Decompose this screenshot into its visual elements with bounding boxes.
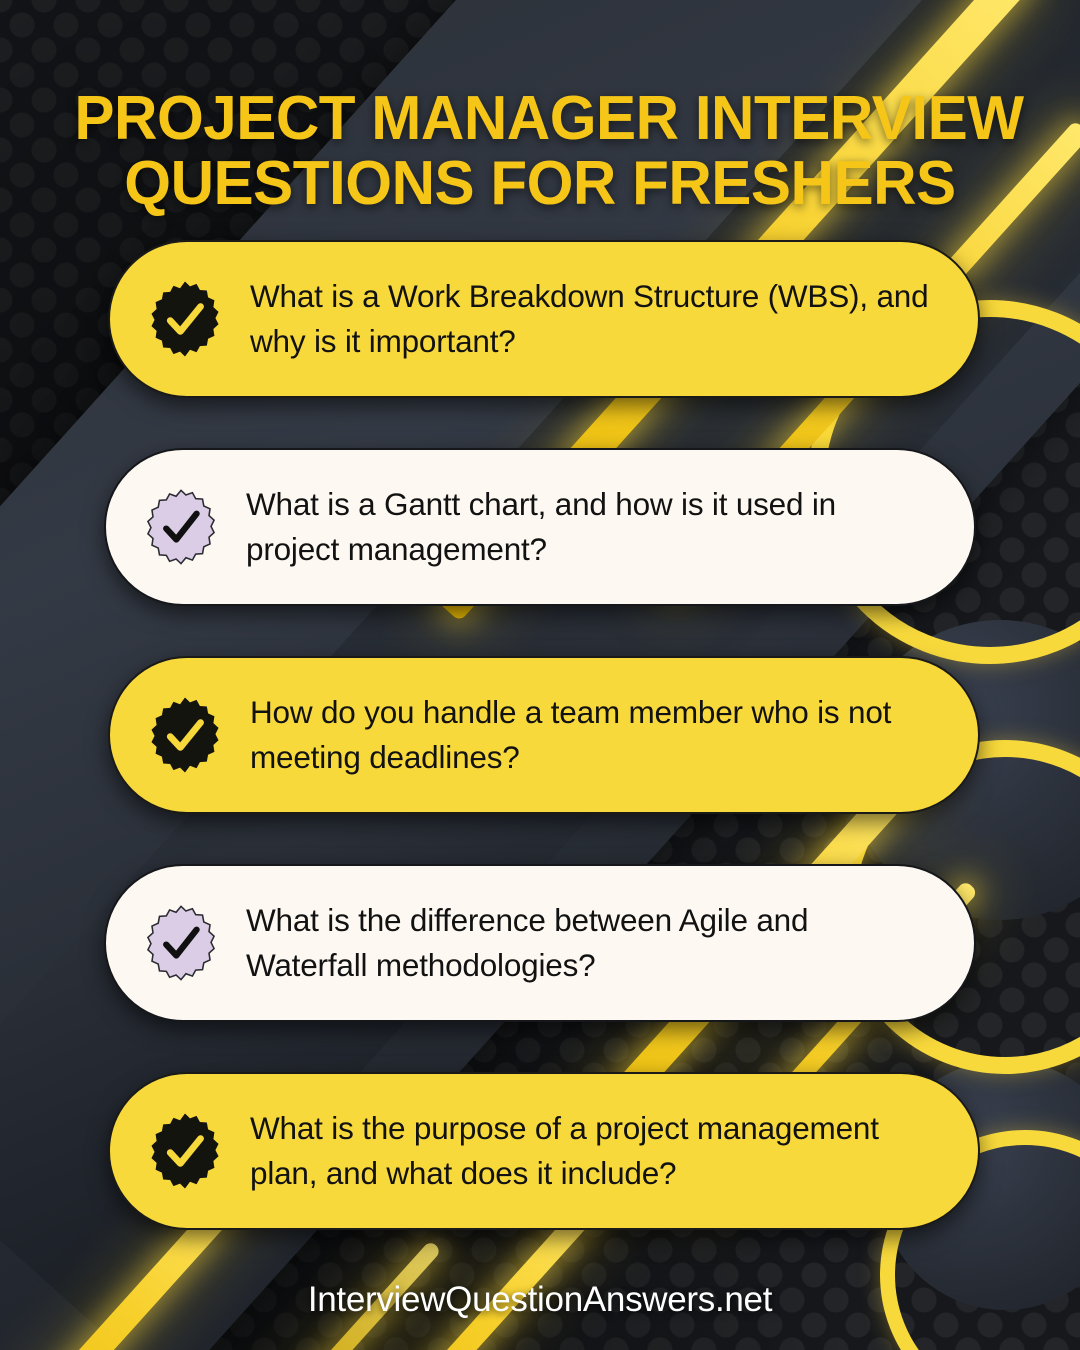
question-text: How do you handle a team member who is n… bbox=[250, 690, 936, 779]
page-title-line-1: PROJECT MANAGER INTERVIEW bbox=[74, 86, 1005, 152]
check-seal-lavender-icon bbox=[142, 904, 220, 982]
question-card-5[interactable]: What is the purpose of a project managem… bbox=[108, 1072, 980, 1230]
check-seal-dark-icon bbox=[146, 696, 224, 774]
question-card-3[interactable]: How do you handle a team member who is n… bbox=[108, 656, 980, 814]
check-seal-lavender-icon bbox=[142, 488, 220, 566]
check-seal-dark-icon bbox=[146, 280, 224, 358]
poster-canvas: PROJECT MANAGER INTERVIEW QUESTIONS FOR … bbox=[0, 0, 1080, 1350]
check-seal-dark-icon bbox=[146, 1112, 224, 1190]
page-title: PROJECT MANAGER INTERVIEW QUESTIONS FOR … bbox=[16, 86, 1064, 217]
question-list: What is a Work Breakdown Structure (WBS)… bbox=[0, 240, 1080, 1280]
question-card-1[interactable]: What is a Work Breakdown Structure (WBS)… bbox=[108, 240, 980, 398]
question-text: What is the purpose of a project managem… bbox=[250, 1106, 936, 1195]
question-card-4[interactable]: What is the difference between Agile and… bbox=[104, 864, 976, 1022]
question-text: What is a Gantt chart, and how is it use… bbox=[246, 482, 932, 571]
question-card-2[interactable]: What is a Gantt chart, and how is it use… bbox=[104, 448, 976, 606]
footer-website-label: InterviewQuestionAnswers.net bbox=[0, 1280, 1080, 1320]
page-title-line-2: QUESTIONS FOR FRESHERS bbox=[74, 151, 1005, 217]
question-text: What is the difference between Agile and… bbox=[246, 898, 932, 987]
question-text: What is a Work Breakdown Structure (WBS)… bbox=[250, 274, 936, 363]
